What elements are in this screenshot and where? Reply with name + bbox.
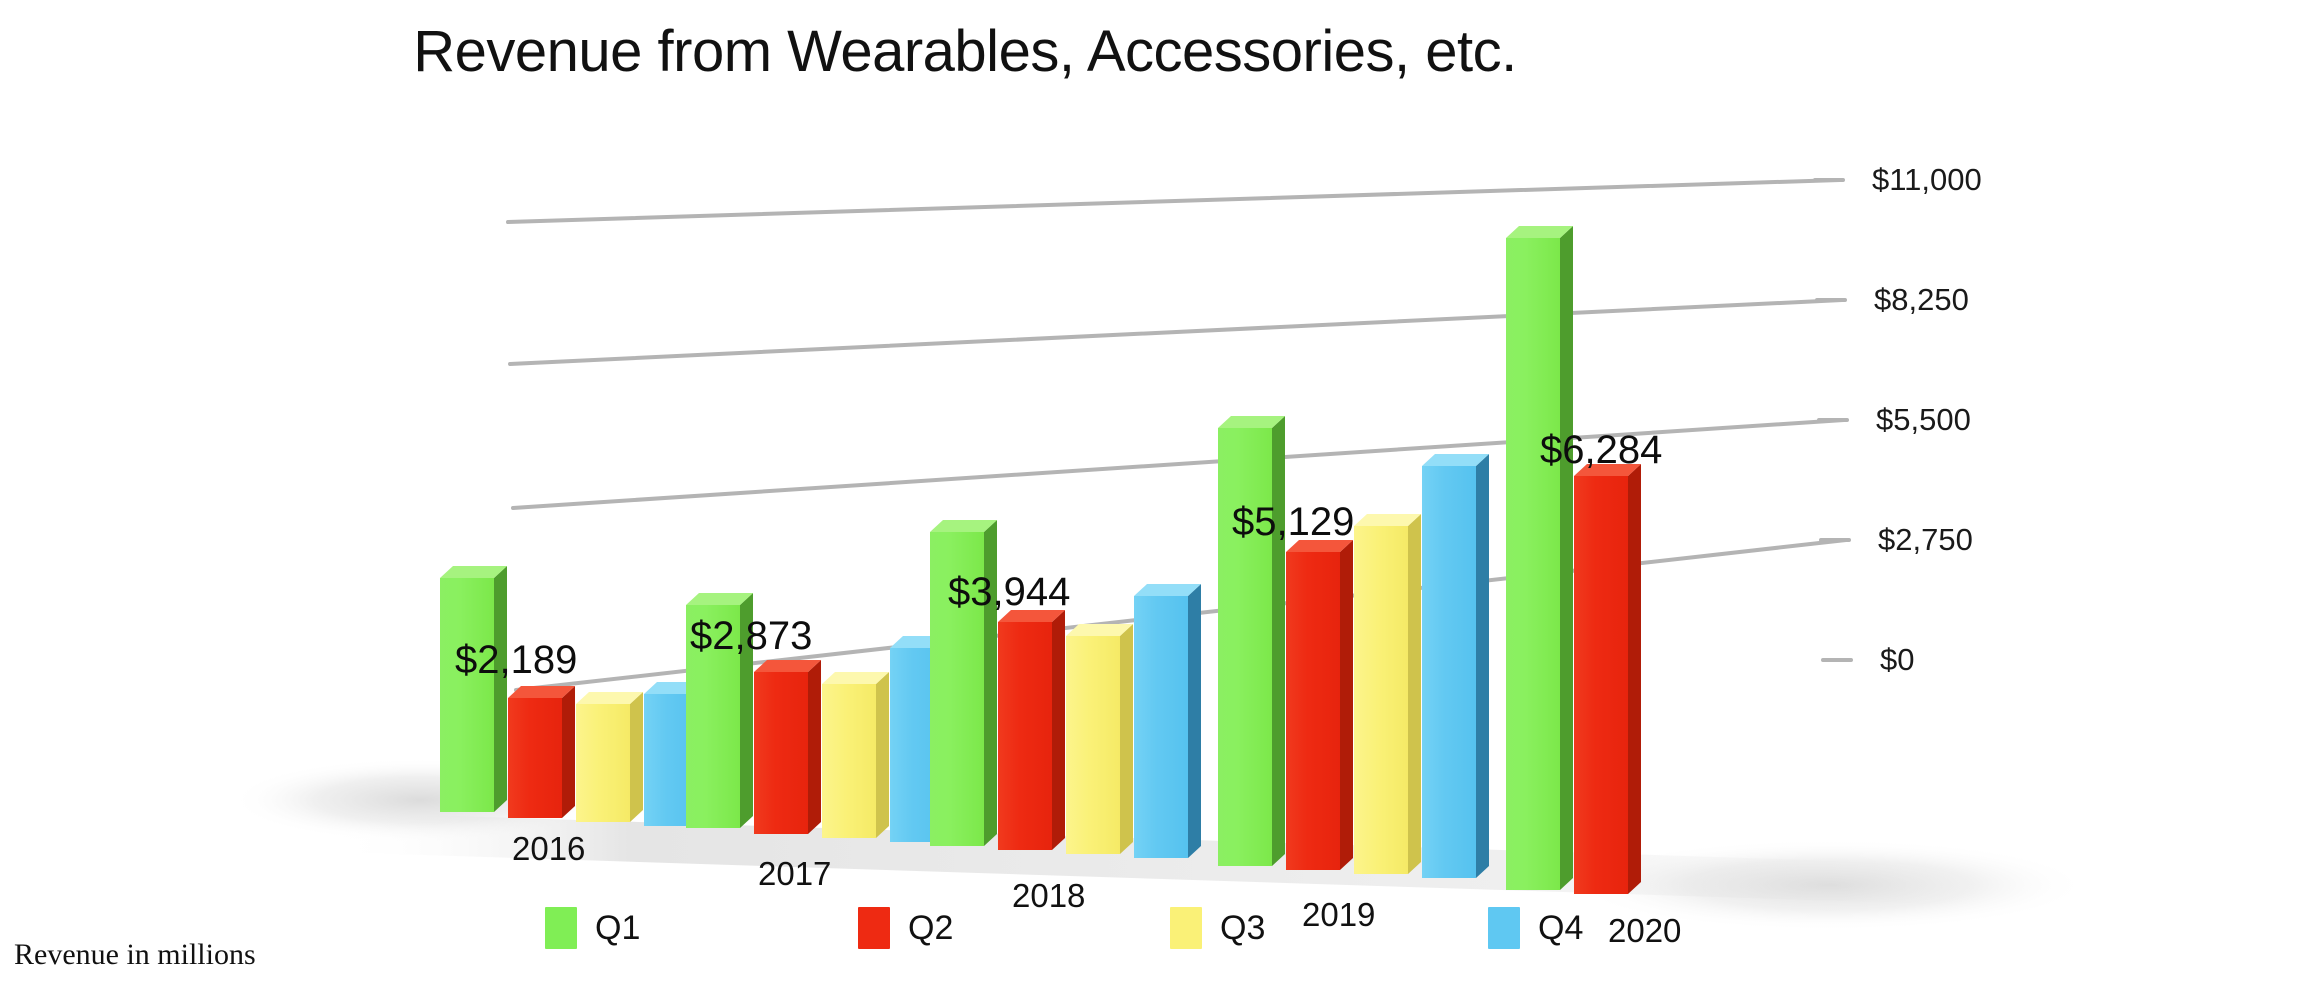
x-tick-label-2017: 2017 — [758, 855, 831, 893]
legend-item-q3[interactable]: Q3 — [1170, 907, 1265, 949]
bar-2017-q2 — [754, 660, 821, 834]
bar-2019-q4 — [1422, 454, 1489, 878]
bar-2020-q1 — [1506, 226, 1573, 890]
chart-canvas: Revenue from Wearables, Accessories, etc… — [0, 0, 2300, 1001]
bar-2018-q1 — [930, 520, 997, 846]
legend-swatch-q1-icon — [545, 907, 577, 949]
gridline-11000 — [508, 180, 1840, 222]
legend-label-q2: Q2 — [908, 911, 953, 945]
y-tick-label: $11,000 — [1872, 162, 1982, 198]
bar-2020-q2 — [1574, 464, 1641, 894]
legend-swatch-q4-icon — [1488, 907, 1520, 949]
legend-label-q4: Q4 — [1538, 911, 1583, 945]
footnote-revenue-units: Revenue in millions — [14, 938, 256, 972]
y-tick-label: $8,250 — [1874, 282, 1969, 318]
value-label-2016-q1: $2,189 — [455, 638, 577, 683]
bar-2019-q1 — [1218, 416, 1285, 866]
value-label-2017-q1: $2,873 — [690, 614, 812, 659]
legend-item-q1[interactable]: Q1 — [545, 907, 640, 949]
bar-2018-q2 — [998, 610, 1065, 850]
bar-2017-q3 — [822, 672, 889, 838]
bar-2018-q3 — [1066, 624, 1133, 854]
legend-swatch-q2-icon — [858, 907, 890, 949]
bar-2019-q3 — [1354, 514, 1421, 874]
gridline-8250 — [510, 300, 1842, 364]
legend-item-q4[interactable]: Q4 — [1488, 907, 1583, 949]
legend-swatch-q3-icon — [1170, 907, 1202, 949]
plot-area — [0, 0, 2300, 1001]
bar-2016-q3 — [576, 692, 643, 822]
y-tick-label: $0 — [1880, 642, 1914, 678]
bar-2019-q2 — [1286, 540, 1353, 870]
bar-2016-q2 — [508, 686, 575, 818]
value-label-2019-q1: $5,129 — [1232, 500, 1354, 545]
value-label-2018-q1: $3,944 — [948, 570, 1070, 615]
x-tick-label-2020: 2020 — [1608, 912, 1681, 950]
bar-2016-q1 — [440, 566, 507, 824]
bar-group-2019 — [1218, 416, 1489, 878]
value-label-2020-q1: $6,284 — [1540, 428, 1662, 473]
legend-item-q2[interactable]: Q2 — [858, 907, 953, 949]
legend-label-q1: Q1 — [595, 911, 640, 945]
y-tick-label: $2,750 — [1878, 522, 1973, 558]
x-tick-label-2018: 2018 — [1012, 877, 1085, 915]
bar-group-2020 — [1506, 226, 1641, 894]
bar-2018-q4 — [1134, 584, 1201, 858]
legend-label-q3: Q3 — [1220, 911, 1265, 945]
y-tick-label: $5,500 — [1876, 402, 1971, 438]
y-axis-ticks — [1815, 180, 1851, 660]
x-tick-label-2019: 2019 — [1302, 896, 1375, 934]
x-tick-label-2016: 2016 — [512, 830, 585, 868]
